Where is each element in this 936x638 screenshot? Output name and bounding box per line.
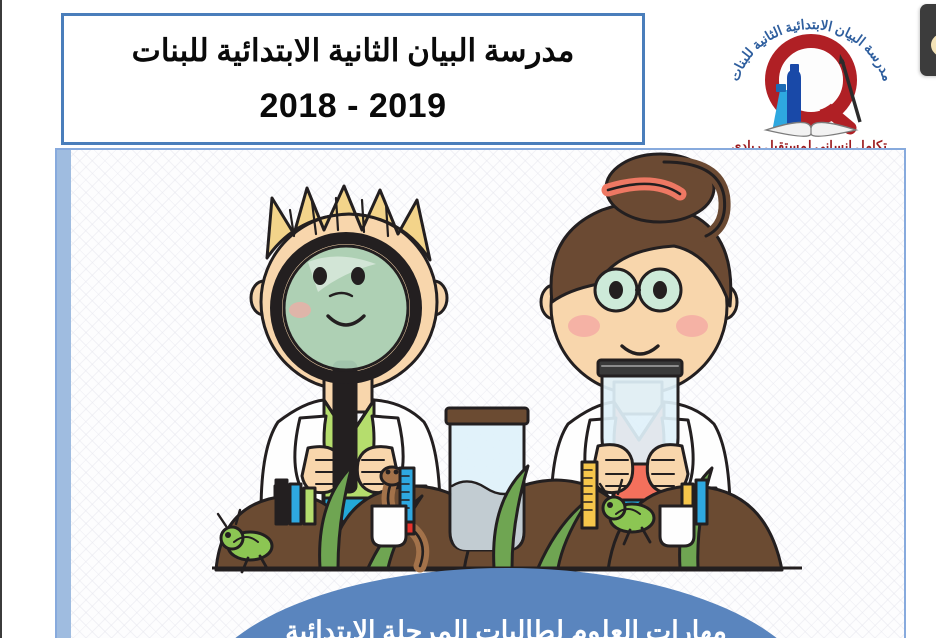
left-accent-bar bbox=[57, 150, 71, 638]
school-name-heading: مدرسة البيان الثانية الابتدائية للبنات bbox=[132, 32, 575, 71]
bottom-banner-caption: مهارات العلوم لطالبات المرحلة الابتدائية bbox=[195, 616, 817, 638]
hand-pointer-icon bbox=[926, 29, 936, 60]
document-page: مدرسة البيان الثانية الابتدائية للبنات 2… bbox=[0, 0, 936, 638]
bottom-blue-banner: مهارات العلوم لطالبات المرحلة الابتدائية bbox=[195, 568, 817, 638]
title-box: مدرسة البيان الثانية الابتدائية للبنات 2… bbox=[61, 13, 645, 145]
logo-beaker-neck bbox=[776, 84, 786, 92]
dark-overlay-panel[interactable] bbox=[920, 4, 936, 76]
academic-year-heading: 2018 - 2019 bbox=[260, 87, 447, 126]
two-kid-scientists-illustration bbox=[212, 150, 802, 575]
page-content-area: مهارات العلوم لطالبات المرحلة الابتدائية bbox=[55, 148, 906, 638]
logo-bottle-cap bbox=[790, 64, 799, 72]
window-edge-line bbox=[0, 0, 2, 638]
school-logo: مدرسة البيان الابتدائية الثانية للبنات ت… bbox=[714, 4, 904, 154]
